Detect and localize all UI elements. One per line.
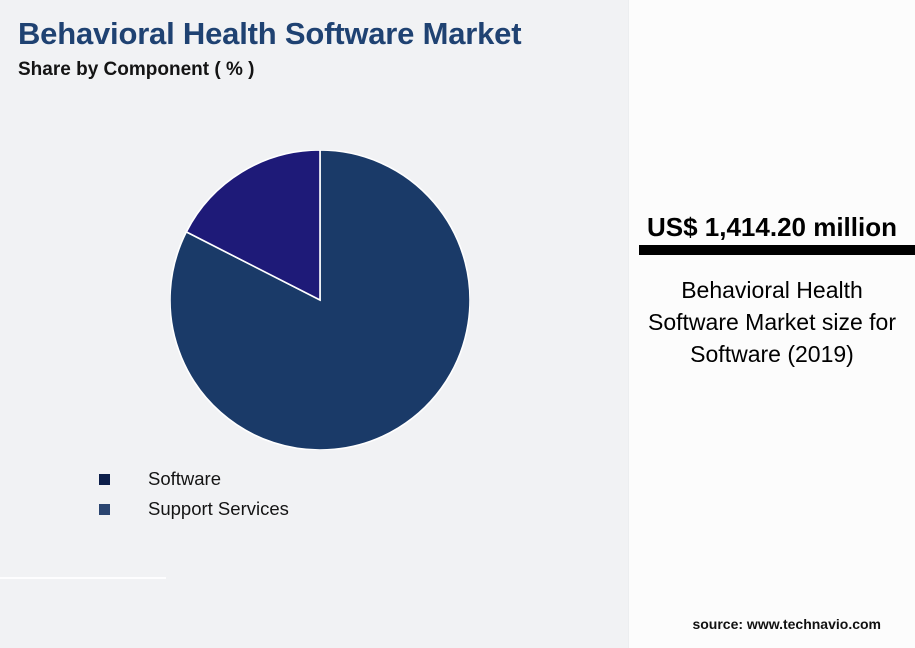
source-note: source: www.technavio.com	[692, 616, 881, 632]
chart-legend: Software Support Services	[99, 464, 289, 524]
pie-chart	[170, 150, 470, 450]
chart-canvas: Behavioral Health Software Market Share …	[0, 0, 915, 648]
chart-subtitle: Share by Component ( % )	[18, 59, 254, 81]
kpi-panel: US$ 1,414.20 million Behavioral Health S…	[628, 0, 915, 648]
kpi-value: US$ 1,414.20 million	[629, 212, 915, 243]
legend-label-software: Software	[148, 468, 221, 490]
pie-chart-svg	[170, 150, 470, 450]
chart-left-panel: Behavioral Health Software Market Share …	[0, 0, 628, 648]
page-title: Behavioral Health Software Market	[18, 16, 521, 52]
legend-item-software[interactable]: Software	[99, 464, 289, 494]
legend-swatch-support-services	[99, 504, 110, 515]
kpi-caption: Behavioral Health Software Market size f…	[647, 274, 897, 370]
legend-swatch-software	[99, 474, 110, 485]
legend-item-support-services[interactable]: Support Services	[99, 494, 289, 524]
kpi-underline-bar	[639, 245, 915, 255]
decorative-rule	[0, 577, 166, 579]
legend-label-support-services: Support Services	[148, 498, 289, 520]
